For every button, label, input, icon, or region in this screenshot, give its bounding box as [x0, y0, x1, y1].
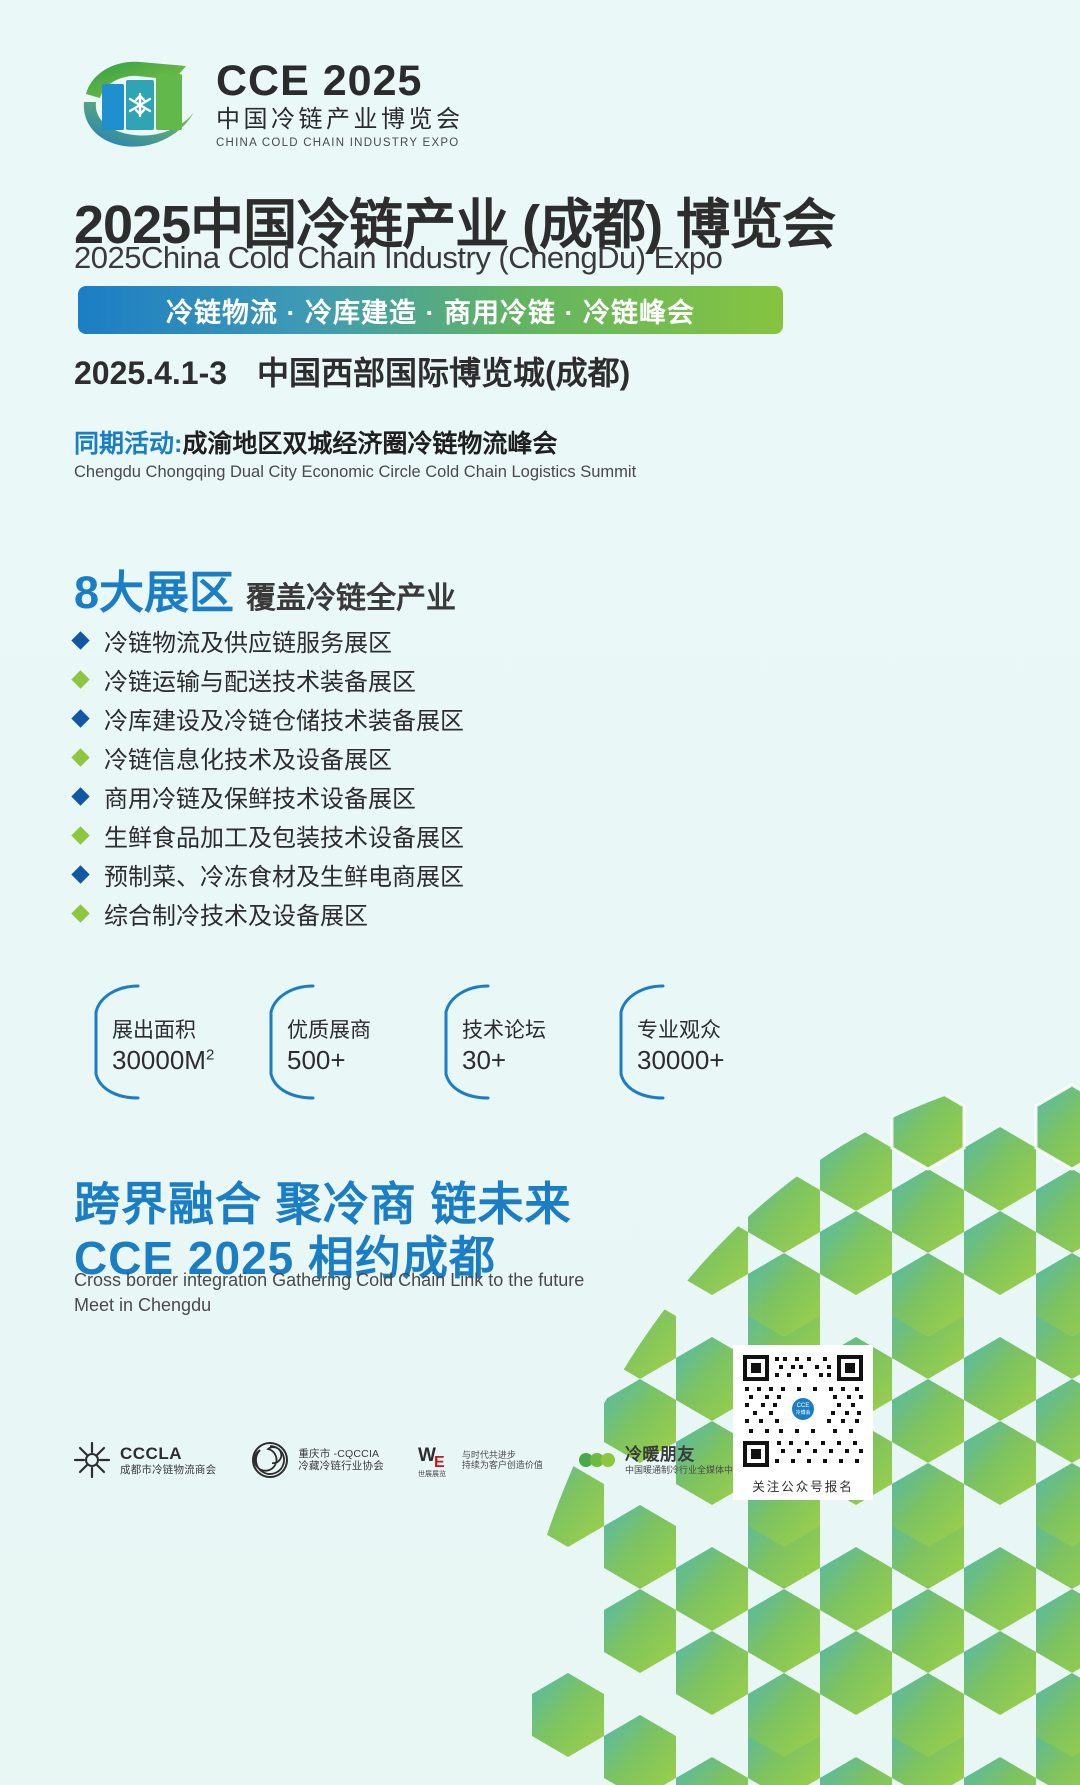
stats-row: 展出面积 30000M2 优质展商 500+ 技术论坛 30+ 专业观众 300…	[78, 982, 778, 1102]
diamond-bullet-icon	[71, 631, 89, 649]
partner-name: 重庆市 -CQCCIA	[298, 1448, 384, 1460]
list-item: 冷库建设及冷链仓储技术装备展区	[74, 700, 464, 736]
lengnuan-pengyou-icon	[577, 1443, 617, 1477]
zones-list: 冷链物流及供应链服务展区 冷链运输与配送技术装备展区 冷库建设及冷链仓储技术装备…	[74, 622, 464, 934]
svg-text:CCE: CCE	[797, 1403, 810, 1409]
stat-title: 技术论坛	[462, 1014, 546, 1044]
list-item-label: 冷链运输与配送技术装备展区	[104, 662, 416, 697]
list-item: 冷链物流及供应链服务展区	[74, 622, 464, 658]
partner-desc: 冷藏冷链行业协会	[298, 1460, 384, 1472]
zones-heading-count: 8大展区	[74, 556, 234, 621]
list-item: 生鲜食品加工及包装技术设备展区	[74, 817, 464, 853]
partner-desc: 与时代共进步	[462, 1450, 543, 1460]
event-venue: 中国西部国际博览城(成都)	[257, 355, 630, 391]
stat-title: 优质展商	[287, 1014, 371, 1044]
diamond-bullet-icon	[71, 904, 89, 922]
partner-desc-2: 持续为客户创造价值	[462, 1460, 543, 1470]
partner-cqccia: 重庆市 -CQCCIA 冷藏冷链行业协会	[250, 1440, 384, 1480]
svg-text:冷博会: 冷博会	[795, 1409, 810, 1416]
stat-card: 优质展商 500+	[253, 982, 428, 1102]
concurrent-event-english: Chengdu Chongqing Dual City Economic Cir…	[74, 463, 636, 482]
diamond-bullet-icon	[71, 865, 89, 883]
event-date-venue: 2025.4.1-3中国西部国际博览城(成都)	[74, 348, 630, 394]
zones-heading: 8大展区 覆盖冷链全产业	[74, 556, 456, 621]
event-date: 2025.4.1-3	[74, 355, 227, 391]
partner-lengnuan-pengyou: 冷暖朋友 中国暖通制冷行业全媒体中心	[577, 1443, 742, 1477]
list-item: 冷链运输与配送技术装备展区	[74, 661, 464, 697]
brand-logo: CCE 2025 中国冷链产业博览会 CHINA COLD CHAIN INDU…	[78, 58, 464, 150]
concurrent-event-title: 成渝地区双城经济圈冷链物流峰会	[182, 430, 557, 458]
svg-text:E: E	[434, 1454, 445, 1471]
stat-value: 30000M2	[112, 1045, 214, 1076]
stat-unit-sup: 2	[206, 1046, 214, 1063]
logo-title: CCE 2025	[216, 59, 464, 103]
stat-card: 展出面积 30000M2	[78, 982, 253, 1102]
list-item: 商用冷链及保鲜技术设备展区	[74, 778, 464, 814]
list-item-label: 冷链信息化技术及设备展区	[104, 740, 392, 775]
stat-card: 专业观众 30000+	[603, 982, 778, 1102]
stat-value: 30000+	[637, 1045, 724, 1076]
poster-root: CCE 2025 中国冷链产业博览会 CHINA COLD CHAIN INDU…	[0, 0, 1080, 1785]
slogan-english-line-2: Meet in Chengdu	[74, 1295, 211, 1316]
partner-name: 冷暖朋友	[625, 1445, 742, 1465]
list-item-label: 预制菜、冷冻食材及生鲜电商展区	[104, 857, 464, 892]
partner-cccla: CCCLA 成都市冷链物流商会	[72, 1440, 216, 1480]
diamond-bullet-icon	[71, 670, 89, 688]
qr-code-card[interactable]: CCE 冷博会 关注公众号报名	[733, 1345, 873, 1500]
cccla-gear-icon	[72, 1440, 112, 1480]
list-item: 预制菜、冷冻食材及生鲜电商展区	[74, 856, 464, 892]
partner-we-expo: W E 世展展览 与时代共进步 持续为客户创造价值	[418, 1441, 543, 1479]
we-expo-icon: W E 世展展览	[418, 1441, 454, 1479]
concurrent-event-label: 同期活动:	[74, 430, 182, 458]
theme-banner-text: 冷链物流 · 冷库建造 · 商用冷链 · 冷链峰会	[166, 291, 695, 330]
stat-title: 展出面积	[112, 1014, 196, 1044]
slogan-english-line-1: Cross border integration Gathering Cold …	[74, 1270, 584, 1291]
diamond-bullet-icon	[71, 748, 89, 766]
cqccia-spiral-icon	[250, 1440, 290, 1480]
list-item-label: 冷库建设及冷链仓储技术装备展区	[104, 701, 464, 736]
qr-code-caption: 关注公众号报名	[752, 1476, 854, 1495]
diamond-bullet-icon	[71, 826, 89, 844]
qr-code-image[interactable]: CCE 冷博会	[739, 1351, 867, 1471]
stat-card: 技术论坛 30+	[428, 982, 603, 1102]
svg-text:世展展览: 世展展览	[418, 1469, 446, 1478]
list-item-label: 冷链物流及供应链服务展区	[104, 623, 392, 658]
list-item: 冷链信息化技术及设备展区	[74, 739, 464, 775]
partner-logos: CCCLA 成都市冷链物流商会 重庆市 -CQCCIA 冷藏冷链行业协会 W E…	[72, 1440, 742, 1480]
list-item-label: 生鲜食品加工及包装技术设备展区	[104, 818, 464, 853]
partner-desc: 中国暖通制冷行业全媒体中心	[625, 1465, 742, 1475]
list-item: 综合制冷技术及设备展区	[74, 895, 464, 931]
stat-title: 专业观众	[637, 1014, 721, 1044]
partner-name: CCCLA	[120, 1444, 216, 1464]
logo-chinese-name: 中国冷链产业博览会	[216, 105, 464, 135]
list-item-label: 综合制冷技术及设备展区	[104, 896, 368, 931]
page-title-english: 2025China Cold Chain Industry (ChengDu) …	[74, 240, 722, 276]
stat-value: 30+	[462, 1045, 506, 1076]
list-item-label: 商用冷链及保鲜技术设备展区	[104, 779, 416, 814]
stat-value: 500+	[287, 1045, 346, 1076]
theme-banner: 冷链物流 · 冷库建造 · 商用冷链 · 冷链峰会	[78, 286, 783, 334]
diamond-bullet-icon	[71, 787, 89, 805]
partner-desc: 成都市冷链物流商会	[120, 1464, 216, 1476]
concurrent-event: 同期活动:成渝地区双城经济圈冷链物流峰会	[74, 424, 557, 460]
diamond-bullet-icon	[71, 709, 89, 727]
cce-hexagon-logo-icon	[78, 58, 200, 150]
logo-english-name: CHINA COLD CHAIN INDUSTRY EXPO	[216, 137, 464, 149]
zones-heading-subtitle: 覆盖冷链全产业	[246, 573, 456, 617]
